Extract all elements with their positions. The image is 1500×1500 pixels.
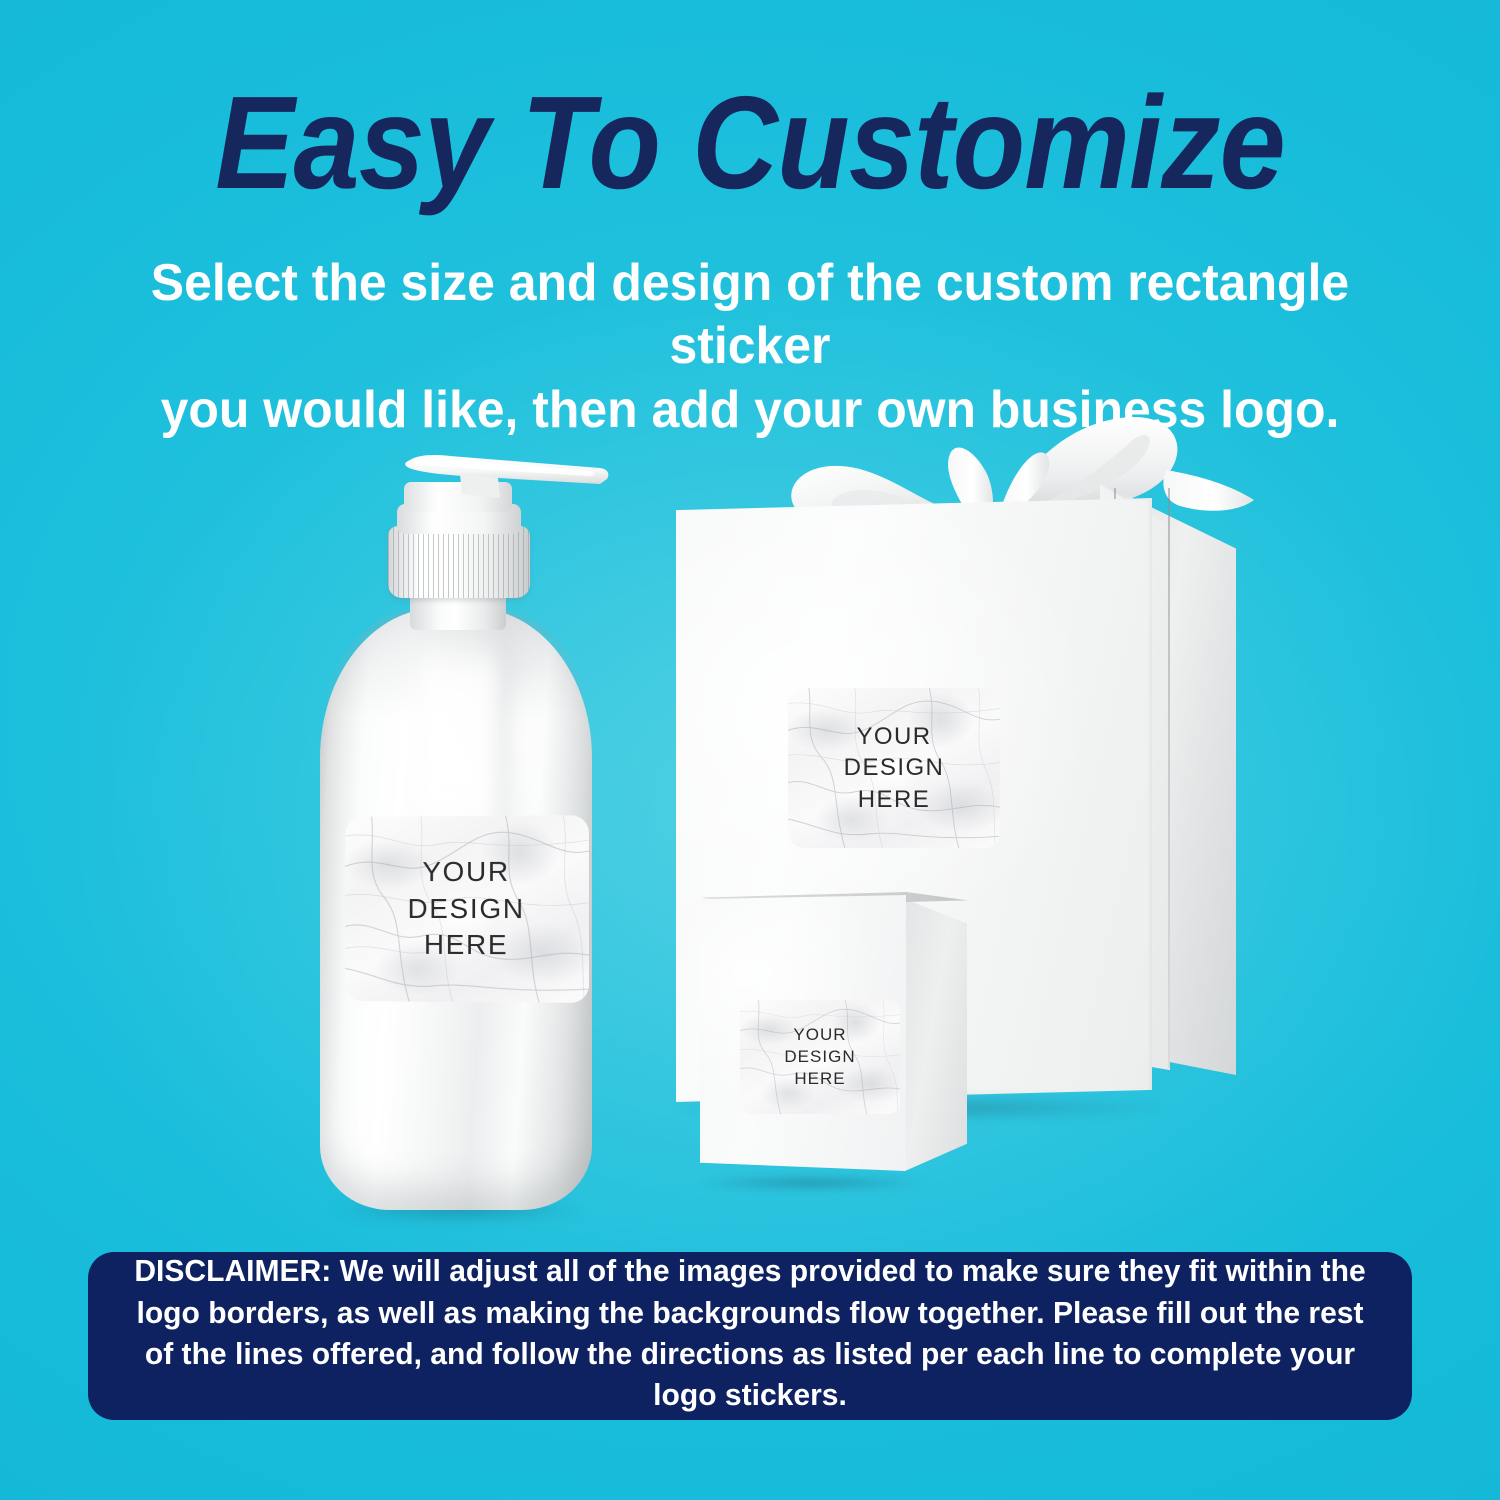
sticker-text: YOUR DESIGN HERE xyxy=(408,854,525,964)
sticker-line-2: DESIGN xyxy=(408,891,525,928)
disclaimer-label: DISCLAIMER: xyxy=(134,1254,331,1288)
sticker-line-3: HERE xyxy=(844,784,945,815)
sticker-line-2: DESIGN xyxy=(844,752,945,783)
small-box-side-panel xyxy=(905,899,967,1171)
small-box-shadow xyxy=(696,1175,926,1191)
disclaimer-panel: DISCLAIMER: We will adjust all of the im… xyxy=(88,1252,1412,1420)
sticker-line-3: HERE xyxy=(784,1068,855,1090)
sticker-small-box-label[interactable]: YOUR DESIGN HERE xyxy=(740,1000,900,1114)
pump-nozzle-icon xyxy=(404,454,610,500)
disclaimer-text: DISCLAIMER: We will adjust all of the im… xyxy=(127,1251,1372,1417)
sticker-gift-box-label[interactable]: YOUR DESIGN HERE xyxy=(788,688,1000,848)
sticker-line-1: YOUR xyxy=(844,721,945,752)
sticker-text: YOUR DESIGN HERE xyxy=(784,1024,855,1090)
gift-box-crease-line xyxy=(1168,488,1170,1068)
scene-background: Easy To Customize Select the size and de… xyxy=(0,0,1500,1500)
sticker-text: YOUR DESIGN HERE xyxy=(844,721,945,815)
bottle-ribbed-collar xyxy=(388,526,530,598)
sticker-line-3: HERE xyxy=(408,927,525,964)
sticker-line-1: YOUR xyxy=(408,854,525,891)
sticker-line-1: YOUR xyxy=(784,1024,855,1046)
sticker-line-2: DESIGN xyxy=(784,1046,855,1068)
sticker-bottle-label[interactable]: YOUR DESIGN HERE xyxy=(345,815,589,1003)
